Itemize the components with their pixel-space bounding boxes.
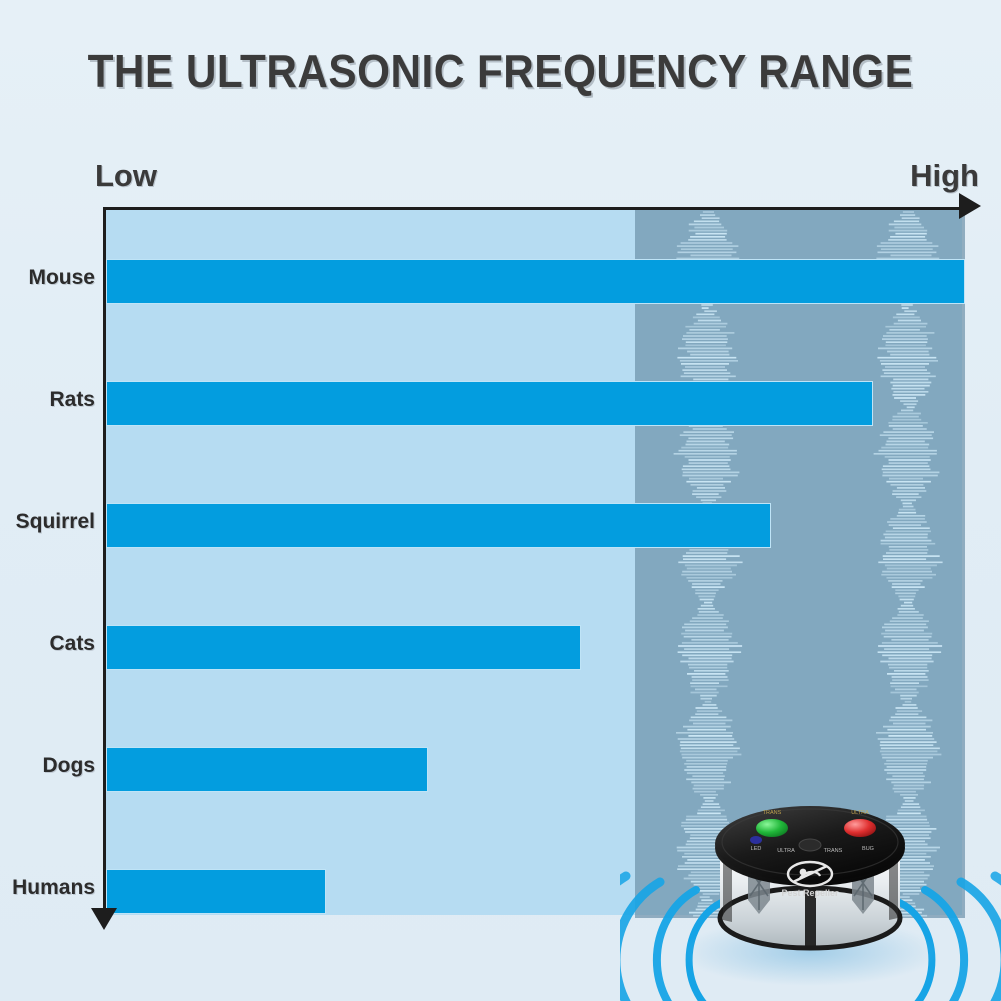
axis-label-low: Low [95, 158, 157, 194]
bar-dogs [106, 747, 428, 792]
device-label-trans-upper: TRANS [763, 810, 782, 816]
led-green-icon [756, 819, 788, 837]
bar-humans [106, 869, 326, 914]
bar-mouse [106, 259, 965, 304]
category-label-mouse: Mouse [0, 266, 95, 290]
category-label-dogs: Dogs [0, 754, 95, 778]
device-label-ultra-lower: ULTRA [777, 848, 795, 854]
device-label-led: LED [751, 846, 762, 852]
led-red-icon [844, 819, 876, 837]
pest-repeller-device: TRANS ULTRA LED ULTRA TRANS BUG Pest Rep… [620, 770, 1001, 1001]
category-label-humans: Humans [0, 876, 95, 900]
device-label-trans-lower: TRANS [824, 848, 843, 854]
led-blue-icon [750, 836, 762, 844]
device-label-bug: BUG [862, 846, 874, 852]
bar-squirrel [106, 503, 771, 548]
category-label-cats: Cats [0, 632, 95, 656]
device-button [799, 839, 821, 851]
page-title: THE ULTRASONIC FREQUENCY RANGE [40, 44, 961, 98]
bar-rats [106, 381, 873, 426]
bar-cats [106, 625, 581, 670]
infographic-canvas: THE ULTRASONIC FREQUENCY RANGE Low High … [0, 0, 1001, 1001]
axis-label-high: High [910, 158, 979, 194]
axis-arrow-right-icon [959, 193, 981, 219]
device-brand-text: Pest Repeller [781, 888, 839, 898]
category-label-rats: Rats [0, 388, 95, 412]
category-label-squirrel: Squirrel [0, 510, 95, 534]
device-label-ultra-upper: ULTRA [851, 810, 869, 816]
axis-arrow-down-icon [91, 908, 117, 930]
